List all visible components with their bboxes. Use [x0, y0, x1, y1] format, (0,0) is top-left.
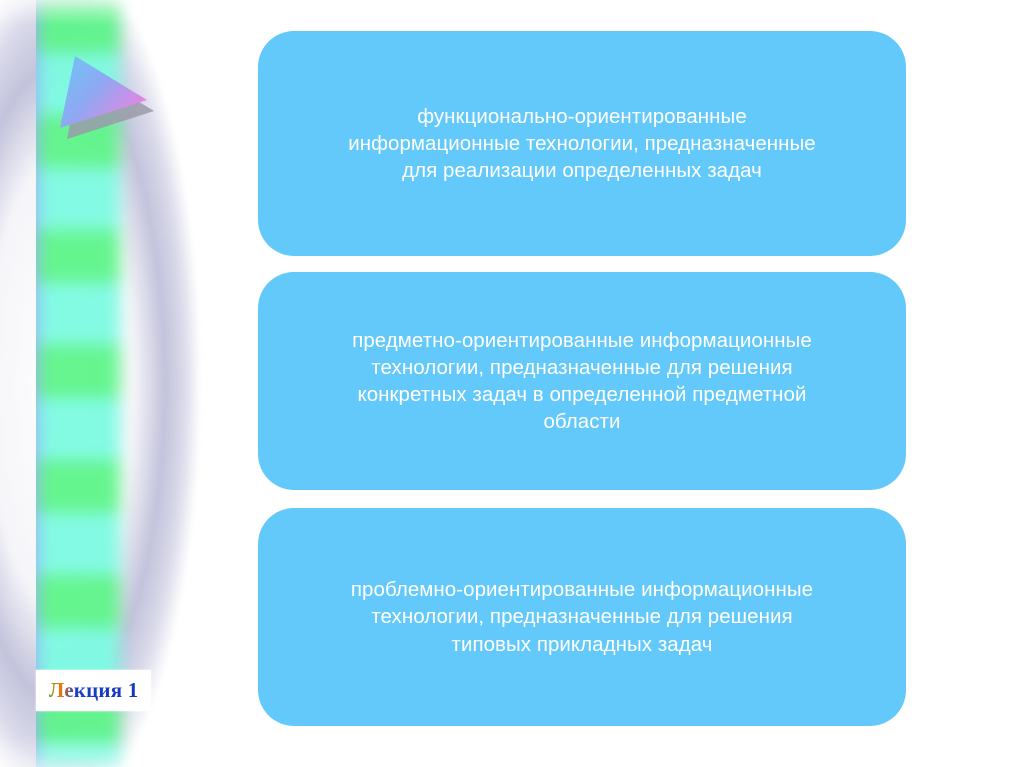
slide-canvas: Лекция 1 функционально-ориентированные и…	[0, 0, 1024, 767]
card-text-problem: проблемно-ориентированные информационные…	[351, 576, 813, 658]
card-text-functional: функционально-ориентированные информацио…	[348, 103, 816, 185]
content-card-functional[interactable]: функционально-ориентированные информацио…	[258, 31, 906, 256]
card-text-subject: предметно-ориентированные информационные…	[352, 327, 812, 436]
triangle-gradient-icon	[55, 52, 160, 137]
content-card-subject[interactable]: предметно-ориентированные информационные…	[258, 272, 906, 490]
lecture-label-text: Лекция 1	[49, 678, 139, 703]
content-card-problem[interactable]: проблемно-ориентированные информационные…	[258, 508, 906, 726]
lecture-label-plate: Лекция 1	[36, 670, 151, 711]
decorative-sidebar: Лекция 1	[0, 0, 200, 767]
triangle-right-icon	[55, 52, 160, 137]
content-card-list: функционально-ориентированные информацио…	[258, 0, 918, 767]
